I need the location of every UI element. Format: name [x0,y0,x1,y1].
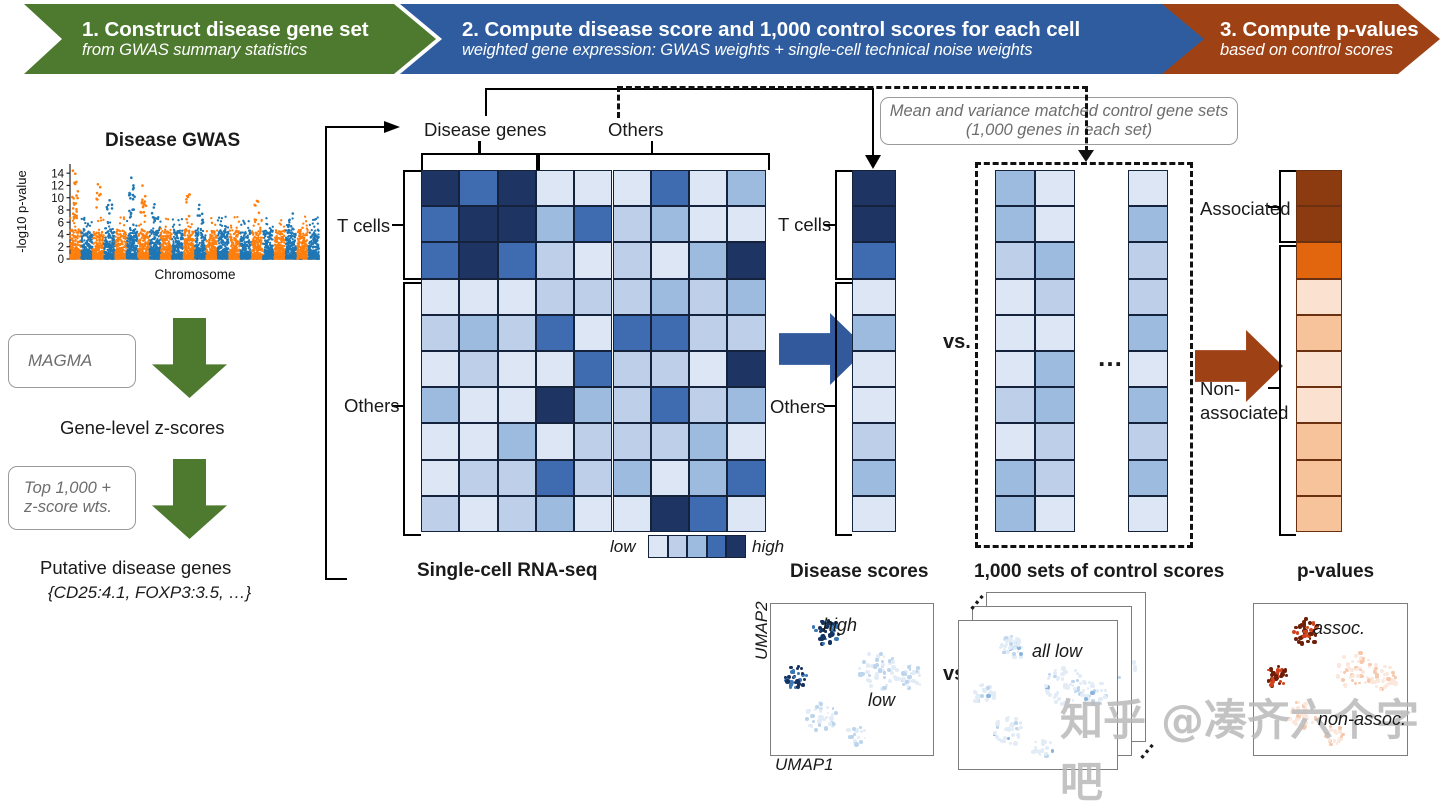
umap-dot [1009,724,1012,727]
heatmap-cell [574,170,612,206]
umap-dot [1078,674,1083,679]
umap-dot [1011,728,1014,731]
umap-dot [1336,674,1340,678]
umap-dot [1044,752,1048,756]
vs-label-top: vs. [943,331,971,354]
umap-dot [1297,701,1301,705]
heatmap-cell [574,460,612,496]
heatmap-cell [613,242,651,278]
umap-dot [819,630,822,633]
heatmap-cell [498,387,536,423]
heatmap-cell [651,170,689,206]
heatmap-cell [689,315,727,351]
umap-dot [919,683,922,686]
green-arrow-down-2 [152,459,227,539]
umap-low-label: low [868,690,895,711]
gene-level-zscores-label: Gene-level z-scores [60,417,225,439]
heatmap-cell [459,387,497,423]
heatmap-cell [727,351,765,387]
tick-associated [1268,206,1280,208]
umap-dot [864,737,867,740]
umap-dot [805,674,808,677]
umap-dot [797,682,801,686]
bracket-disease-genes [421,153,538,170]
heatmap-cell [574,496,612,532]
umap-dot [1132,660,1137,665]
banner-step-3-title: 3. Compute p-values [1220,19,1440,41]
umap-dot [1009,742,1012,745]
heatmap-cell [498,206,536,242]
heatmap-cell [613,206,651,242]
umap-dot [856,728,859,731]
svg-text:12: 12 [51,181,64,193]
pvalue-cell [1296,206,1342,242]
heatmap-cell [574,351,612,387]
umap-dot [1276,668,1281,673]
umap-dot [1310,708,1314,712]
control-gene-sets-note-text: Mean and variance matched control gene s… [881,102,1237,141]
umap-dot [1368,663,1371,666]
umap-dot [801,683,805,687]
heatmap-cell [689,496,727,532]
umap-dot [1014,721,1018,725]
pvalue-cell [1296,460,1342,496]
manhattan-plot: 02468101214-log10 p-valueChromosome [14,160,324,285]
heatmap-cell [459,170,497,206]
control-gene-sets-note: Mean and variance matched control gene s… [880,97,1238,145]
umap-dot [1312,640,1317,645]
umap-assoc-label: assoc. [1313,618,1365,639]
umap-dot [918,674,921,677]
banner-step-3-subtitle: based on control scores [1220,41,1440,59]
umap-dot [1362,657,1365,660]
umap-dot [1311,721,1314,724]
umap-dot [869,684,873,688]
umap-dot [1349,676,1352,679]
umap-dot [1006,640,1010,644]
umap-dot [1016,638,1021,643]
umap-dot [883,676,886,679]
umap-dot [810,714,815,719]
umap-dot [800,667,803,670]
heatmap-cell [536,351,574,387]
heatmap-cell [689,279,727,315]
umap-dot [1367,659,1370,662]
legend-low-label: low [610,537,636,557]
umap-dot [801,672,804,675]
umap-dot [862,660,866,664]
pvalue-cell [1296,242,1342,278]
heatmap-cell [459,315,497,351]
umap-dot [1077,686,1080,689]
heatmap-cell [651,423,689,459]
umap-dot [1287,717,1292,722]
umap-dot [1007,737,1010,740]
umap-dot [901,671,906,676]
umap-dot [993,731,997,735]
umap-dot [1054,700,1058,704]
heatmap-cell [459,460,497,496]
umap-dot [1304,721,1308,725]
umap-dot [986,694,991,699]
umap-dot [857,736,860,739]
heatmap-cell [727,423,765,459]
heatmap-cell [689,351,727,387]
umap-dot [858,667,861,670]
heatmap-cell [651,242,689,278]
svg-text:6: 6 [58,217,64,229]
umap-dot [1388,666,1392,670]
umap-dot [995,722,1000,727]
umap-dot [832,722,835,725]
umap-dot [1377,680,1381,684]
heatmap-cell [459,279,497,315]
umap-dot [1083,681,1087,685]
umap-dot [912,670,917,675]
heatmap-cell [727,496,765,532]
umap-dot [1005,643,1008,646]
umap-dot [859,726,862,729]
umap-dot [1019,721,1022,724]
heatmap-cell [613,423,651,459]
heatmap-cell [536,423,574,459]
heatmap-cell [498,460,536,496]
umap-dot [1385,672,1389,676]
umap-dot [975,692,978,695]
scrnaseq-caption: Single-cell RNA-seq [417,560,598,582]
magma-label: MAGMA [28,351,92,371]
umap-dot [825,716,828,719]
bracket-tick-tcells [392,224,404,226]
umap-dot [866,678,870,682]
bracket-tick-disease-genes [478,141,480,154]
umap-dot [817,719,822,724]
bracket-tcell-rows [403,170,421,280]
heatmap-cell [459,206,497,242]
umap-dot [999,646,1002,649]
heatmap-cell [421,460,459,496]
umap-nonassoc-label: non-assoc. [1318,709,1406,730]
heatmap-cell [421,387,459,423]
umap-dot [1325,732,1329,736]
umap-dot [1341,733,1345,737]
heatmap-cell [727,206,765,242]
umap-dot [1019,726,1023,730]
bracket-ds-tcells [835,170,852,280]
heatmap-cell [727,460,765,496]
umap-dot [1340,671,1343,674]
tick-nonassociated [1268,387,1280,389]
heatmap-cell [536,315,574,351]
heatmap-cell [727,279,765,315]
heatmap-cell [689,460,727,496]
arrow-head-right-icon [384,118,406,136]
heatmap-cell [498,242,536,278]
heatmap-cell [651,496,689,532]
umap-dot [805,717,809,721]
heatmap-cell [536,206,574,242]
umap-dot [1269,683,1274,688]
umap-high-label: high [823,615,857,636]
umap-dot [803,678,807,682]
heatmap-cell [498,423,536,459]
heatmap-cell [651,315,689,351]
disease-score-cell [852,496,896,532]
heatmap-cell [727,387,765,423]
umap-dot [834,711,838,715]
heatmap-cell [421,423,459,459]
disease-score-cell [852,170,896,206]
umap-dot [1333,739,1336,742]
heatmap-cell [727,315,765,351]
umap-dot [818,723,822,727]
umap-dot [1053,671,1057,675]
pvalue-cell [1296,170,1342,206]
svg-text:8: 8 [58,205,64,217]
heatmap-cell [421,170,459,206]
bracket-other-genes [538,153,770,170]
umap-dot [1099,702,1102,705]
umap-dot [1354,682,1357,685]
umap-dot [1350,668,1354,672]
heatmap-cell [536,387,574,423]
umap-dot [997,738,1001,742]
umap-dot [1082,689,1085,692]
tick-ds-tcells [824,224,836,226]
heatmap-cell [613,279,651,315]
heatmap-cell [421,496,459,532]
disease-score-cell [852,423,896,459]
umap-dot [1300,641,1305,646]
umap-dot [797,672,800,675]
connector-down-heatmap [485,88,487,116]
svg-text:Chromosome: Chromosome [154,267,235,282]
umap-dot [905,680,909,684]
umap-dot [863,729,866,732]
umap-dot [1303,702,1308,707]
umap-dot [822,642,825,645]
umap-dot [1337,663,1341,667]
umap-dot [891,660,895,664]
umap-dot [1308,632,1312,636]
svg-text:0: 0 [58,254,64,266]
heatmap-cell [613,170,651,206]
heatmap-cell [689,423,727,459]
umap-dot [1306,640,1310,644]
top-genes-line2: z-score wts. [24,498,112,517]
legend-swatch [687,535,707,558]
row-group-others-label: Others [344,395,400,417]
dashed-connector-down-box [1085,86,1088,152]
umap-dot [1343,683,1346,686]
heatmap-cell [536,170,574,206]
disease-scores-others-label: Others [770,396,826,418]
umap-dot [1296,708,1300,712]
umap-all-low-label: all low [1032,641,1082,662]
umap-dot [1080,693,1084,697]
heatmap-cell [574,423,612,459]
svg-text:2: 2 [58,242,64,254]
heatmap-cell [574,279,612,315]
umap-dot [1296,631,1300,635]
umap-dot [1282,669,1286,673]
green-arrow-down-1 [152,318,227,398]
umap-dot [895,668,899,672]
umap-dot [1013,741,1018,746]
umap-dot [790,670,794,674]
umap-dot [1103,695,1107,699]
umap-dot [1083,701,1087,705]
umap-dot [985,698,989,702]
umap-dot [814,728,818,732]
umap-dot [814,629,818,633]
umap-dot [1362,675,1365,678]
umap-dot [824,726,829,731]
umap-dot [797,665,800,668]
heatmap-cell [651,351,689,387]
bracket-ds-others [835,282,852,536]
umap-dot [881,663,885,667]
umap-dot [1011,733,1015,737]
umap-dot [1354,654,1358,658]
umap-dot [834,637,838,641]
heatmap-cell [651,460,689,496]
umap-dot [979,684,982,687]
umap-dot [1329,743,1333,747]
umap-dot [1087,687,1090,690]
heatmap-cell [613,315,651,351]
umap-dot [1072,699,1075,702]
bracket-tick-other-genes [651,141,653,154]
control-scores-caption: 1,000 sets of control scores [974,561,1224,583]
umap-dot [819,709,822,712]
disease-scores-caption: Disease scores [790,561,928,583]
bracket-other-rows [403,282,421,536]
umap-dot [812,720,815,723]
heatmap-cell [498,496,536,532]
umap-dot [1280,675,1283,678]
col-group-disease-genes-label: Disease genes [424,119,546,141]
disease-score-cell [852,460,896,496]
umap-dot [1100,689,1103,692]
pvalue-cell [1296,279,1342,315]
top-genes-line1: Top 1,000 + [24,479,111,498]
umap-dot [1358,682,1361,685]
umap-dot [1133,665,1137,669]
umap-dot [1034,741,1037,744]
umap-dot [1091,699,1096,704]
umap-dot [1012,652,1016,656]
umap-dot [1049,741,1053,745]
pvalues-caption: p-values [1297,561,1374,583]
umap-dot [1019,652,1023,656]
disease-score-cell [852,242,896,278]
umap-dot [1088,681,1091,684]
umap-dot [826,706,829,709]
heatmap-cell [689,387,727,423]
umap-dot [818,637,822,641]
heatmap-cell [651,206,689,242]
umap-dot [1351,660,1354,663]
umap-dot [1308,621,1312,625]
banner-step-1-title: 1. Construct disease gene set [82,19,436,41]
heatmap-cell [613,496,651,532]
pvalue-cell [1296,423,1342,459]
umap-dot [1051,749,1054,752]
heatmap-cell [727,242,765,278]
umap-dot [1061,666,1065,670]
arrow-head-down-icon [1077,150,1097,164]
umap-dot [888,679,892,683]
umap-dot [1002,740,1006,744]
umap-dot [814,708,817,711]
control-scores-ellipsis: … [1097,342,1124,373]
umap-dot [1303,708,1307,712]
heatmap-cell [651,387,689,423]
top-genes-box: Top 1,000 + z-score wts. [8,466,136,530]
umap-dot [1357,660,1360,663]
bracket-nonassociated [1279,245,1296,536]
heatmap-cell [421,315,459,351]
heatmap-cell [689,242,727,278]
heatmap-cell [498,315,536,351]
umap-dot [1358,651,1363,656]
umap-dot [874,675,878,679]
umap-dot [829,716,834,721]
heatmap-cell [613,351,651,387]
umap-yaxis-label: UMAP2 [752,601,772,660]
umap-dot [873,664,878,669]
umap-dot [1071,680,1075,684]
umap-dot [867,652,871,656]
umap-dot [1375,685,1378,688]
heatmap-cell [574,387,612,423]
heatmap-cell [498,351,536,387]
legend-swatch [707,535,727,558]
disease-score-cell [852,351,896,387]
umap-dot [1304,725,1308,729]
umap-dot [1274,674,1278,678]
umap-dot [1394,676,1397,679]
heatmap-cell [536,496,574,532]
heatmap-cell [727,170,765,206]
umap-dot [1383,665,1387,669]
heatmap-cell [498,170,536,206]
heatmap-cell [498,279,536,315]
umap-dot [1056,676,1060,680]
umap-dot [1366,676,1369,679]
umap-dot [1324,735,1327,738]
heatmap-cell [459,496,497,532]
umap-dot [859,674,862,677]
heatmap-cell [536,279,574,315]
umap-dot [1048,693,1052,697]
banner-step-1: 1. Construct disease gene set from GWAS … [24,4,436,74]
umap-dot [1294,637,1298,641]
umap-dot [785,679,790,684]
control-gene-sets-dashed-box [975,162,1193,548]
pvalue-cell [1296,496,1342,532]
heatmap-cell [574,242,612,278]
umap-dot [883,671,886,674]
legend-high-label: high [752,537,784,557]
pvalue-cell [1296,315,1342,351]
umap-dot [909,668,912,671]
arrow-head-down-icon [864,155,884,171]
legend-swatch [668,535,688,558]
umap-dot [1380,669,1384,673]
heatmap-cell [421,351,459,387]
